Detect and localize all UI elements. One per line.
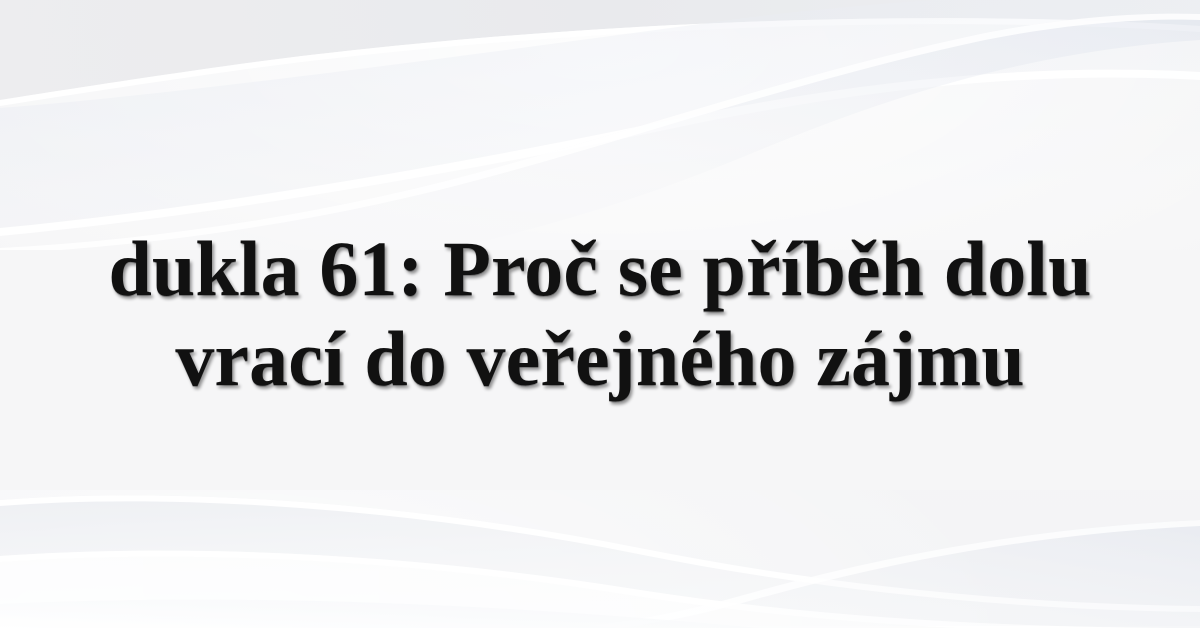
headline-container: dukla 61: Proč se příběh dolu vrací do v…	[0, 0, 1200, 628]
page-title: dukla 61: Proč se příběh dolu vrací do v…	[90, 224, 1110, 404]
title-card: dukla 61: Proč se příběh dolu vrací do v…	[0, 0, 1200, 628]
